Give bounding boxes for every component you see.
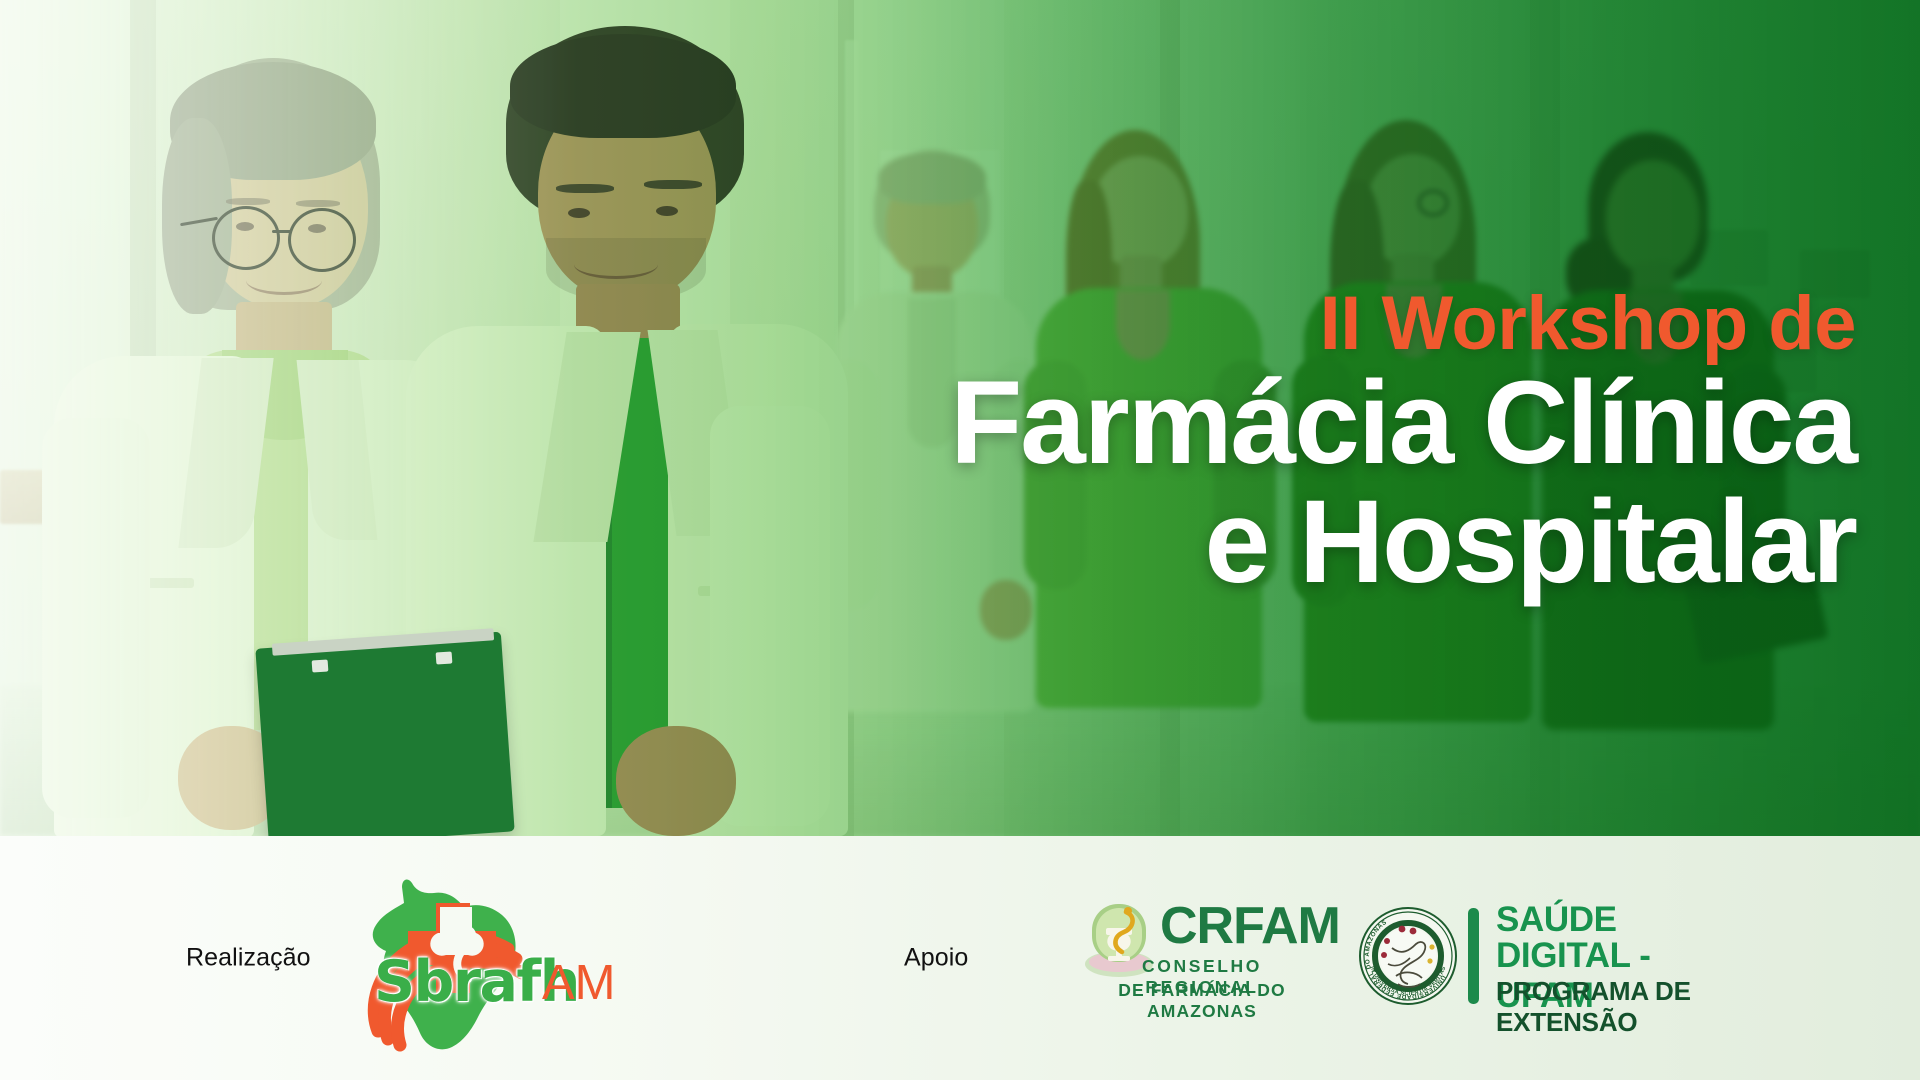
ufam-line-1: SAÚDE (1496, 900, 1617, 940)
realizacao-label: Realização (186, 944, 311, 973)
sbrafh-suffix: AM (542, 955, 616, 1011)
crfam-logo[interactable]: CRFAM CONSELHO REGIONAL DE FARMÁCIA DO A… (1082, 900, 1322, 1016)
clipboard (255, 632, 514, 836)
eye (568, 208, 590, 218)
clipboard-rivet (312, 659, 329, 672)
ufam-accent-bar (1468, 908, 1479, 1004)
event-headline: Farmácia Clínica e Hospitalar (736, 364, 1856, 602)
apoio-label: Apoio (904, 944, 968, 973)
clipboard-rivet (436, 651, 453, 664)
eyebrow (226, 198, 270, 205)
eyeglasses-bridge (272, 230, 292, 233)
hand (616, 726, 736, 836)
crfam-acronym: CRFAM (1160, 896, 1340, 956)
hair-fringe (878, 152, 986, 204)
hair-fringe (510, 34, 736, 138)
eyebrow (556, 184, 614, 193)
event-banner: II Workshop de Farmácia Clínica e Hospit… (0, 0, 1920, 1080)
sponsor-footer: Realização (0, 836, 1920, 1080)
eye (656, 206, 678, 216)
head (1606, 160, 1700, 274)
event-kicker: II Workshop de (736, 286, 1856, 362)
ufam-saude-digital-logo[interactable]: UNIVERSIDADE FEDERAL DO AMAZONAS IN UNIV… (1358, 900, 1748, 1016)
title-block: II Workshop de Farmácia Clínica e Hospit… (736, 286, 1856, 602)
headline-line-2: e Hospitalar (736, 483, 1856, 602)
headline-line-1: Farmácia Clínica (950, 357, 1856, 489)
eyeglasses-icon (1418, 190, 1448, 216)
ufam-line-3: PROGRAMA DE EXTENSÃO (1496, 976, 1748, 1038)
crfam-line-2: DE FARMÁCIA DO AMAZONAS (1082, 980, 1322, 1022)
mouth (246, 266, 322, 295)
eyeglasses-icon (212, 206, 280, 270)
eyebrow (296, 200, 340, 207)
realizacao-group: Realização (186, 944, 311, 973)
eyebrow (644, 180, 702, 189)
arm (42, 418, 150, 818)
eyeglasses-icon (288, 208, 356, 272)
ufam-university-seal-icon: UNIVERSIDADE FEDERAL DO AMAZONAS IN UNIV… (1358, 906, 1458, 1006)
apoio-group: Apoio (904, 944, 968, 973)
sbrafh-logo[interactable]: Sbrafh AM (360, 863, 628, 1053)
